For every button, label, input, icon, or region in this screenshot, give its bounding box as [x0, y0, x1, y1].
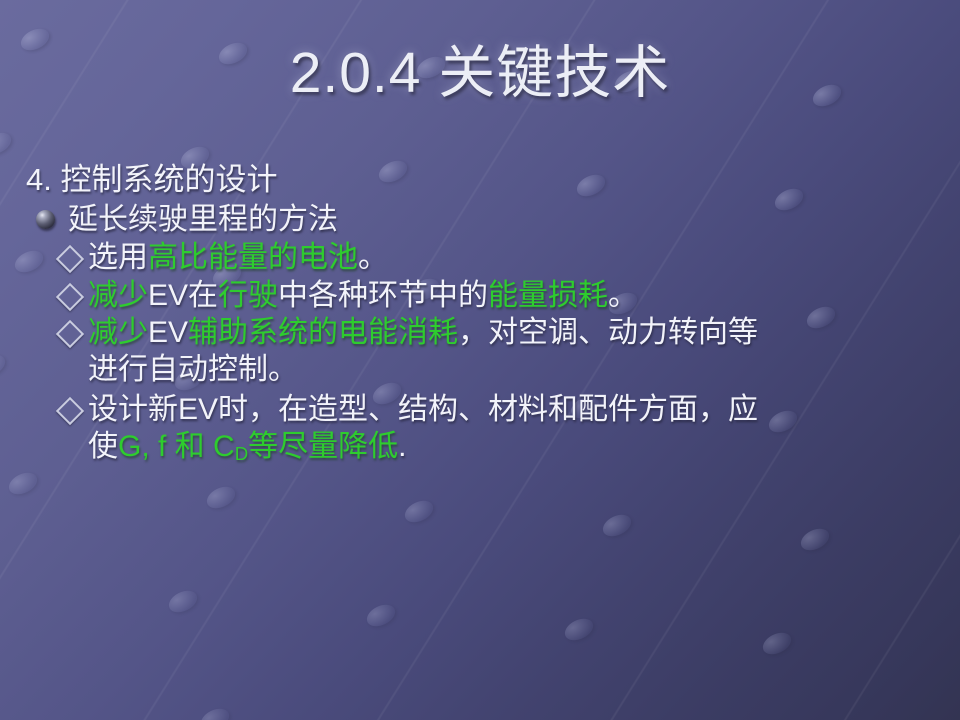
run-text-highlight: 辅助系统的 — [188, 316, 338, 349]
run-text: EV — [148, 316, 188, 349]
run-text: 中各种环节中的 — [278, 279, 488, 312]
run-text-highlight: 电能消耗 — [338, 316, 458, 349]
background-bead — [5, 468, 40, 498]
run-text-highlight: G, f 和 C — [118, 430, 235, 463]
presentation-slide: 2.0.4 关键技术 4. 控制系统的设计 延长续驶里程的方法 选用高比能量的电… — [0, 0, 960, 720]
run-text-highlight: 行驶 — [218, 279, 278, 312]
slide-title-text: 2.0.4 关键技术 — [290, 41, 671, 105]
list-item: 选用高比能量的电池。 — [60, 239, 944, 276]
run-text: 。 — [358, 241, 388, 274]
body-heading: 4. 控制系统的设计 — [26, 160, 944, 200]
background-bead — [165, 586, 200, 616]
run-text-highlight: 等尽量降低 — [248, 430, 398, 463]
diamond-bullet-icon — [56, 397, 84, 425]
run-text: . — [398, 430, 406, 463]
body-subheading-label: 延长续驶里程的方法 — [68, 200, 338, 239]
background-bead — [197, 704, 232, 720]
list-item: 减少EV在行驶中各种环节中的能量损耗。 — [60, 277, 944, 314]
list-item: 设计新EV时，在造型、结构、材料和配件方面，应使G, f 和 CD等尽量降低. — [60, 391, 944, 466]
run-text-highlight: 能量损耗 — [488, 279, 608, 312]
subscript-d: D — [235, 443, 248, 464]
background-bead — [759, 628, 794, 658]
run-text-highlight: 减少 — [88, 279, 148, 312]
background-bead — [599, 510, 634, 540]
list-item: 减少EV辅助系统的电能消耗，对空调、动力转向等进行自动控制。 — [60, 314, 944, 389]
background-bead — [561, 614, 596, 644]
background-bead — [363, 600, 398, 630]
run-text: 选用 — [88, 241, 148, 274]
bullet-list: 选用高比能量的电池。 减少EV在行驶中各种环节中的能量损耗。 减少EV辅助系统的… — [60, 239, 944, 465]
background-bead — [401, 496, 436, 526]
sphere-bullet-icon — [36, 210, 55, 229]
diamond-bullet-icon — [56, 282, 84, 310]
slide-title: 2.0.4 关键技术 — [0, 44, 960, 104]
run-text: 使 — [88, 430, 118, 463]
diamond-bullet-icon — [56, 320, 84, 348]
run-text: 。 — [608, 279, 638, 312]
list-item-text: 设计新EV时，在造型、结构、材料和配件方面，应使G, f 和 CD等尽量降低. — [88, 391, 758, 466]
background-bead — [797, 524, 832, 554]
run-text-highlight: 高比能量的电池 — [148, 241, 358, 274]
run-text: 进行自动控制。 — [88, 353, 298, 386]
background-bead — [203, 482, 238, 512]
run-text-highlight: 减少 — [88, 316, 148, 349]
diamond-bullet-icon — [56, 245, 84, 273]
body-subheading-row: 延长续驶里程的方法 — [36, 200, 944, 239]
run-text: EV在 — [148, 279, 218, 312]
list-item-text: 减少EV在行驶中各种环节中的能量损耗。 — [88, 277, 638, 314]
run-text: ，对空调、动力转向等 — [458, 316, 758, 349]
slide-body: 4. 控制系统的设计 延长续驶里程的方法 选用高比能量的电池。 减少EV在行驶中… — [26, 160, 944, 465]
background-bead — [0, 350, 9, 380]
run-text: 设计新EV时，在造型、结构、材料和配件方面，应 — [88, 393, 758, 426]
background-bead — [0, 128, 15, 158]
list-item-text: 选用高比能量的电池。 — [88, 239, 388, 276]
list-item-text: 减少EV辅助系统的电能消耗，对空调、动力转向等进行自动控制。 — [88, 314, 758, 389]
